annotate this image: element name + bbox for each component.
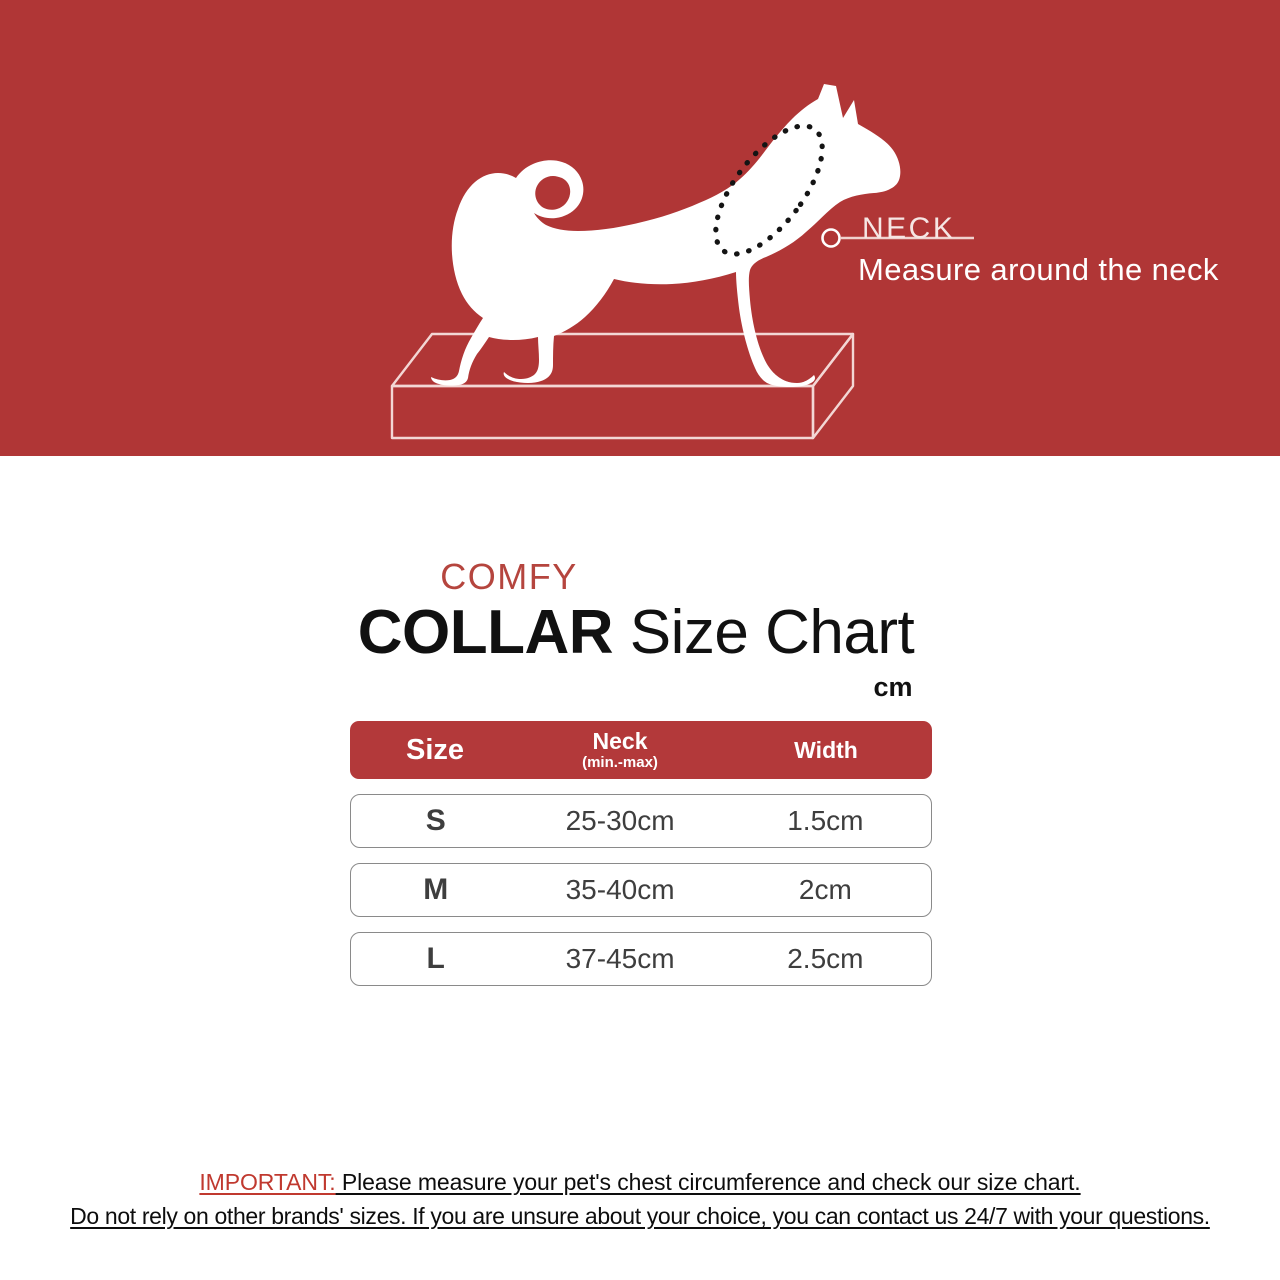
- dog-silhouette-icon: [431, 84, 900, 387]
- column-header-width: Width: [720, 737, 932, 764]
- cell-width: 1.5cm: [720, 805, 931, 837]
- footer-important-label: IMPORTANT:: [199, 1169, 335, 1195]
- table-row: S 25-30cm 1.5cm: [350, 794, 932, 848]
- dog-illustration: [0, 0, 1280, 456]
- hero-banner: NECK Measure around the neck: [0, 0, 1280, 456]
- size-chart-table: Size Neck (min.-max) Width S 25-30cm 1.5…: [350, 721, 932, 986]
- table-row: M 35-40cm 2cm: [350, 863, 932, 917]
- cell-size: L: [351, 942, 520, 976]
- unit-label: cm: [845, 672, 941, 703]
- cell-neck: 35-40cm: [520, 874, 719, 906]
- footer-line-1-text: Please measure your pet's chest circumfe…: [336, 1169, 1081, 1195]
- cell-width: 2.5cm: [720, 943, 931, 975]
- column-header-size: Size: [350, 734, 520, 767]
- page-title: COMFY COLLAR Size Chart: [0, 556, 1280, 684]
- cell-neck: 37-45cm: [520, 943, 719, 975]
- cell-width: 2cm: [720, 874, 931, 906]
- title-main-line: COLLAR Size Chart: [0, 598, 1280, 684]
- title-eyebrow: COMFY: [0, 556, 1280, 598]
- footer-notice: IMPORTANT: Please measure your pet's che…: [0, 1165, 1280, 1233]
- cell-size: M: [351, 873, 520, 907]
- column-header-neck-label: Neck: [593, 729, 648, 753]
- column-header-neck: Neck (min.-max): [520, 729, 720, 771]
- size-chart-page: NECK Measure around the neck COMFY COLLA…: [0, 0, 1280, 1280]
- neck-callout-marker-icon: [823, 230, 975, 247]
- table-header-row: Size Neck (min.-max) Width: [350, 721, 932, 779]
- column-header-neck-sublabel: (min.-max): [582, 755, 658, 771]
- footer-line-2-text: Do not rely on other brands' sizes. If y…: [0, 1199, 1280, 1233]
- title-size-chart-words: Size Chart: [613, 598, 914, 667]
- cell-size: S: [351, 804, 520, 838]
- footer-line-1: IMPORTANT: Please measure your pet's che…: [0, 1165, 1280, 1199]
- title-collar-word: COLLAR: [358, 598, 613, 667]
- table-row: L 37-45cm 2.5cm: [350, 932, 932, 986]
- cell-neck: 25-30cm: [520, 805, 719, 837]
